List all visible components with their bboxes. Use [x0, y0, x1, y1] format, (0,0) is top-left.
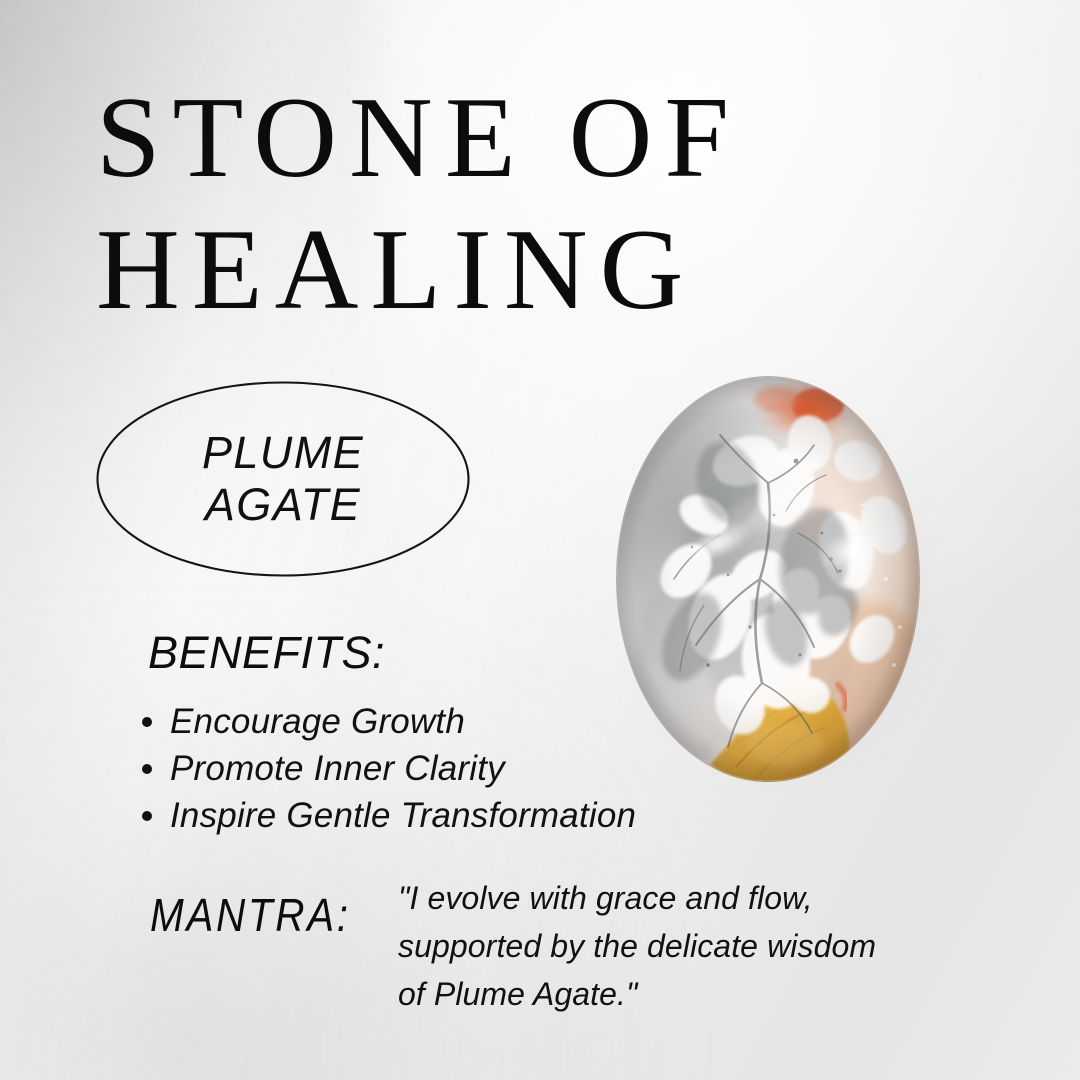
benefit-text: Encourage Growth: [170, 698, 465, 745]
mantra-quote: "I evolve with grace and flow, supported…: [398, 874, 968, 1018]
badge-text-group: PLUME AGATE: [96, 381, 470, 577]
badge-line-2: AGATE: [205, 480, 361, 530]
plume-agate-stone-image: [600, 365, 960, 805]
mantra-quote-line-3: of Plume Agate.": [398, 970, 968, 1018]
list-item: Inspire Gentle Transformation: [142, 792, 636, 839]
stone-body: [600, 365, 960, 805]
benefits-heading: BENEFITS:: [148, 627, 385, 679]
mantra-quote-line-2: supported by the delicate wisdom: [398, 922, 968, 970]
benefits-list: Encourage Growth Promote Inner Clarity I…: [142, 698, 636, 839]
mantra-quote-line-1: "I evolve with grace and flow,: [398, 874, 968, 922]
badge-line-1: PLUME: [202, 428, 364, 478]
page-title: STONE OF HEALING: [96, 82, 796, 327]
benefit-text: Promote Inner Clarity: [170, 745, 505, 792]
title-line-2: HEALING: [96, 214, 796, 328]
stone-name-badge: PLUME AGATE: [96, 381, 470, 577]
list-item: Promote Inner Clarity: [142, 745, 636, 792]
benefit-text: Inspire Gentle Transformation: [170, 792, 636, 839]
bullet-dot-icon: [142, 764, 152, 774]
mantra-label: MANTRA:: [150, 888, 351, 942]
list-item: Encourage Growth: [142, 698, 636, 745]
bullet-dot-icon: [142, 811, 152, 821]
poster-canvas: STONE OF HEALING PLUME AGATE BENEFITS: E…: [0, 0, 1080, 1080]
bullet-dot-icon: [142, 717, 152, 727]
title-line-1: STONE OF: [96, 82, 796, 196]
